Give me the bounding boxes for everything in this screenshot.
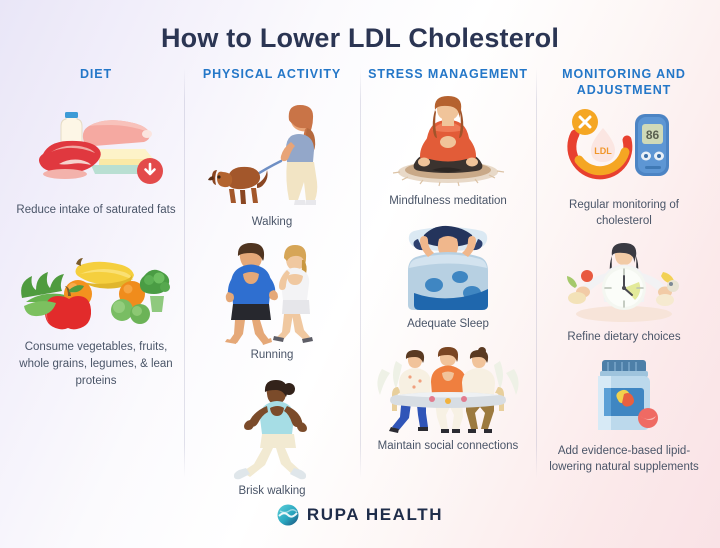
social-connections-art (368, 345, 528, 433)
sleep-art (388, 223, 508, 311)
column-stress-management: STRESS MANAGEMENT (360, 64, 536, 464)
social-connections-icon (368, 345, 528, 433)
caption-mindfulness-meditation: Mindfulness meditation (389, 193, 507, 210)
item-running: Running (190, 242, 354, 364)
page-title: How to Lower LDL Cholesterol (0, 0, 720, 54)
item-brisk-walking: Brisk walking (190, 378, 354, 500)
caption-regular-monitoring: Regular monitoring of cholesterol (544, 197, 704, 230)
dietary-clock-icon (549, 242, 699, 324)
caption-social-connections: Maintain social connections (378, 438, 519, 455)
caption-consume-vegetables: Consume vegetables, fruits, whole grains… (16, 339, 176, 389)
walking-dog-art (207, 104, 337, 209)
items-diet: Reduce intake of saturated fats (14, 98, 178, 390)
item-mindfulness-meditation: Mindfulness meditation (366, 98, 530, 210)
brisk-walking-art (217, 378, 327, 478)
column-header-physical-activity: PHYSICAL ACTIVITY (203, 64, 341, 98)
item-social-connections: Maintain social connections (366, 345, 530, 455)
brand-name: RUPA HEALTH (307, 505, 443, 525)
caption-adequate-sleep: Adequate Sleep (407, 316, 489, 333)
footer-brand: RUPA HEALTH (0, 504, 720, 526)
column-physical-activity: PHYSICAL ACTIVITY (184, 64, 360, 464)
item-regular-monitoring: LDL 86 (542, 100, 706, 230)
rupa-health-logo-icon (277, 504, 299, 526)
column-header-diet: DIET (80, 64, 112, 98)
item-supplements: Add evidence-based lipid-lowering natura… (542, 356, 706, 476)
columns-container: DIET (0, 64, 720, 464)
item-walking: Walking (190, 104, 354, 231)
item-reduce-saturated-fats: Reduce intake of saturated fats (14, 102, 178, 219)
caption-supplements: Add evidence-based lipid-lowering natura… (544, 443, 704, 476)
glucose-meter-art: LDL 86 (559, 100, 689, 192)
column-diet: DIET (8, 64, 184, 464)
brisk-walking-icon (217, 378, 327, 478)
caption-walking: Walking (252, 214, 292, 231)
meditation-art (378, 98, 518, 188)
caption-refine-dietary-choices: Refine dietary choices (567, 329, 680, 346)
fruits-vegetables-icon (16, 242, 176, 334)
dietary-clock-art (549, 242, 699, 324)
items-monitoring-adjustment: LDL 86 (542, 98, 706, 476)
items-stress-management: Mindfulness meditation (366, 98, 530, 455)
running-couple-icon (212, 242, 332, 342)
sleep-icon (388, 223, 508, 311)
ldl-badge-label: LDL (594, 146, 612, 156)
items-physical-activity: Walking (190, 98, 354, 500)
meditation-icon (378, 98, 518, 188)
column-header-monitoring-adjustment: MONITORING AND ADJUSTMENT (542, 64, 706, 98)
column-monitoring-adjustment: MONITORING AND ADJUSTMENT LDL (536, 64, 712, 464)
item-adequate-sleep: Adequate Sleep (366, 223, 530, 333)
saturated-fats-art (21, 102, 171, 197)
caption-running: Running (251, 347, 294, 364)
caption-reduce-saturated-fats: Reduce intake of saturated fats (16, 202, 175, 219)
saturated-fats-icon (21, 102, 171, 197)
item-consume-vegetables: Consume vegetables, fruits, whole grains… (14, 242, 178, 389)
running-couple-art (212, 242, 332, 342)
supplement-bottle-art (576, 356, 672, 438)
column-header-stress-management: STRESS MANAGEMENT (368, 64, 528, 98)
walking-dog-icon (207, 104, 337, 209)
supplement-bottle-icon (576, 356, 672, 438)
item-refine-dietary-choices: Refine dietary choices (542, 242, 706, 346)
caption-brisk-walking: Brisk walking (238, 483, 305, 500)
glucose-meter-icon: LDL 86 (559, 100, 689, 192)
svg-text:86: 86 (646, 128, 660, 142)
fruits-vegetables-art (16, 242, 176, 334)
